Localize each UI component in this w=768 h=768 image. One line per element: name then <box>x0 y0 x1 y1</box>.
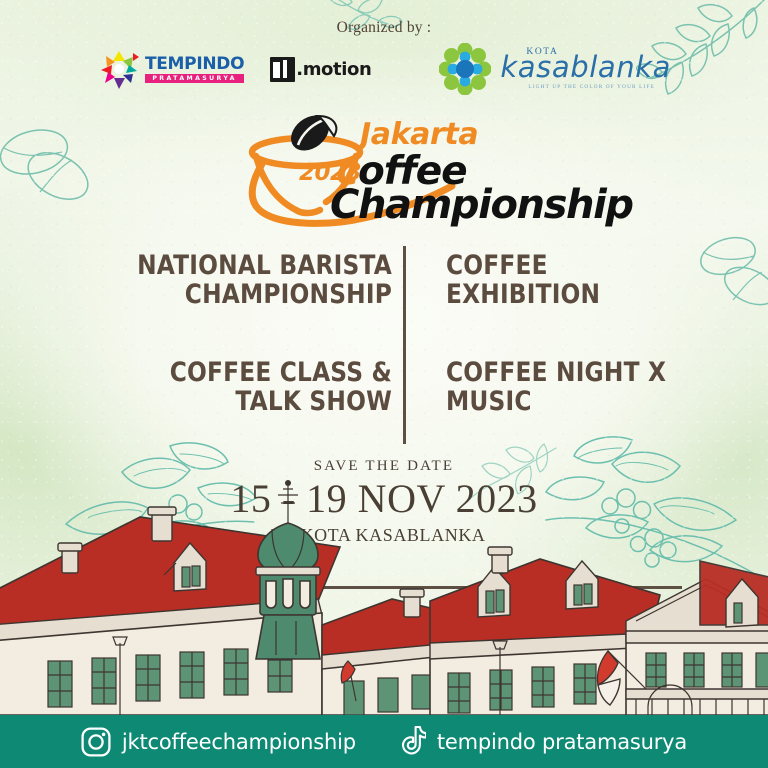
jakarta-old-town-illustration: .wall{fill:#f2ece1;stroke:#3d3530;stroke… <box>0 475 768 715</box>
program-grid: NATIONAL BARISTA CHAMPIONSHIP COFFEE EXH… <box>0 242 768 447</box>
motion-square-icon <box>270 57 295 82</box>
program-item-coffee-exhibition: COFFEE EXHIBITION <box>446 252 710 310</box>
program-item-coffee-night-x-music: COFFEE NIGHT X MUSIC <box>446 359 710 417</box>
social-tiktok[interactable]: tempindo pratamasurya <box>398 726 687 757</box>
tiktok-handle[interactable]: tempindo pratamasurya <box>437 730 687 754</box>
kasablanka-flower-icon <box>439 43 491 95</box>
kasablanka-tagline: LIGHT UP THE COLOR OF YOUR LIFE <box>528 85 671 90</box>
social-instagram[interactable]: jktcoffeechampionship <box>81 727 356 757</box>
event-logo: 2023 Jakarta c offee Championship <box>0 112 768 230</box>
logo-championship: Championship <box>330 182 633 228</box>
coffee-bean-icon <box>284 112 336 158</box>
poster-canvas: Organized by : <box>0 0 768 768</box>
save-the-date-label: SAVE THE DATE <box>0 458 768 475</box>
program-item-national-barista-championship: NATIONAL BARISTA CHAMPIONSHIP <box>82 252 392 310</box>
tempindo-subtitle: PRATAMASURYA <box>145 74 244 83</box>
sponsor-logo-motion: .motion <box>270 57 371 82</box>
sponsor-logo-tempindo: TEMPINDO PRATAMASURYA <box>97 47 244 91</box>
tiktok-icon[interactable] <box>398 726 426 757</box>
social-footer-bar: jktcoffeechampionship tempindo pratamasu… <box>0 715 768 768</box>
program-line: MUSIC <box>446 388 710 417</box>
tempindo-starburst-icon <box>97 47 141 91</box>
instagram-icon[interactable] <box>81 727 111 757</box>
motion-name: .motion <box>296 59 371 80</box>
program-line: CHAMPIONSHIP <box>82 281 392 310</box>
program-line: COFFEE <box>446 252 710 281</box>
program-line: TALK SHOW <box>82 388 392 417</box>
instagram-handle[interactable]: jktcoffeechampionship <box>122 730 356 754</box>
program-line: EXHIBITION <box>446 281 710 310</box>
grid-vertical-divider <box>403 246 406 444</box>
program-line: NATIONAL BARISTA <box>82 252 392 281</box>
logo-jakarta: Jakarta <box>355 117 478 152</box>
program-line: COFFEE CLASS & <box>82 359 392 388</box>
organized-by-label: Organized by : <box>0 19 768 37</box>
sponsor-logo-kota-kasablanka: KOTA kasablanka LIGHT UP THE COLOR OF YO… <box>439 43 671 95</box>
tempindo-name: TEMPINDO <box>145 56 244 73</box>
kasablanka-name: kasablanka <box>500 54 671 82</box>
program-line: COFFEE NIGHT X <box>446 359 710 388</box>
sponsor-logo-row: TEMPINDO PRATAMASURYA .motion <box>0 40 768 98</box>
program-item-coffee-class-talk-show: COFFEE CLASS & TALK SHOW <box>82 359 392 417</box>
